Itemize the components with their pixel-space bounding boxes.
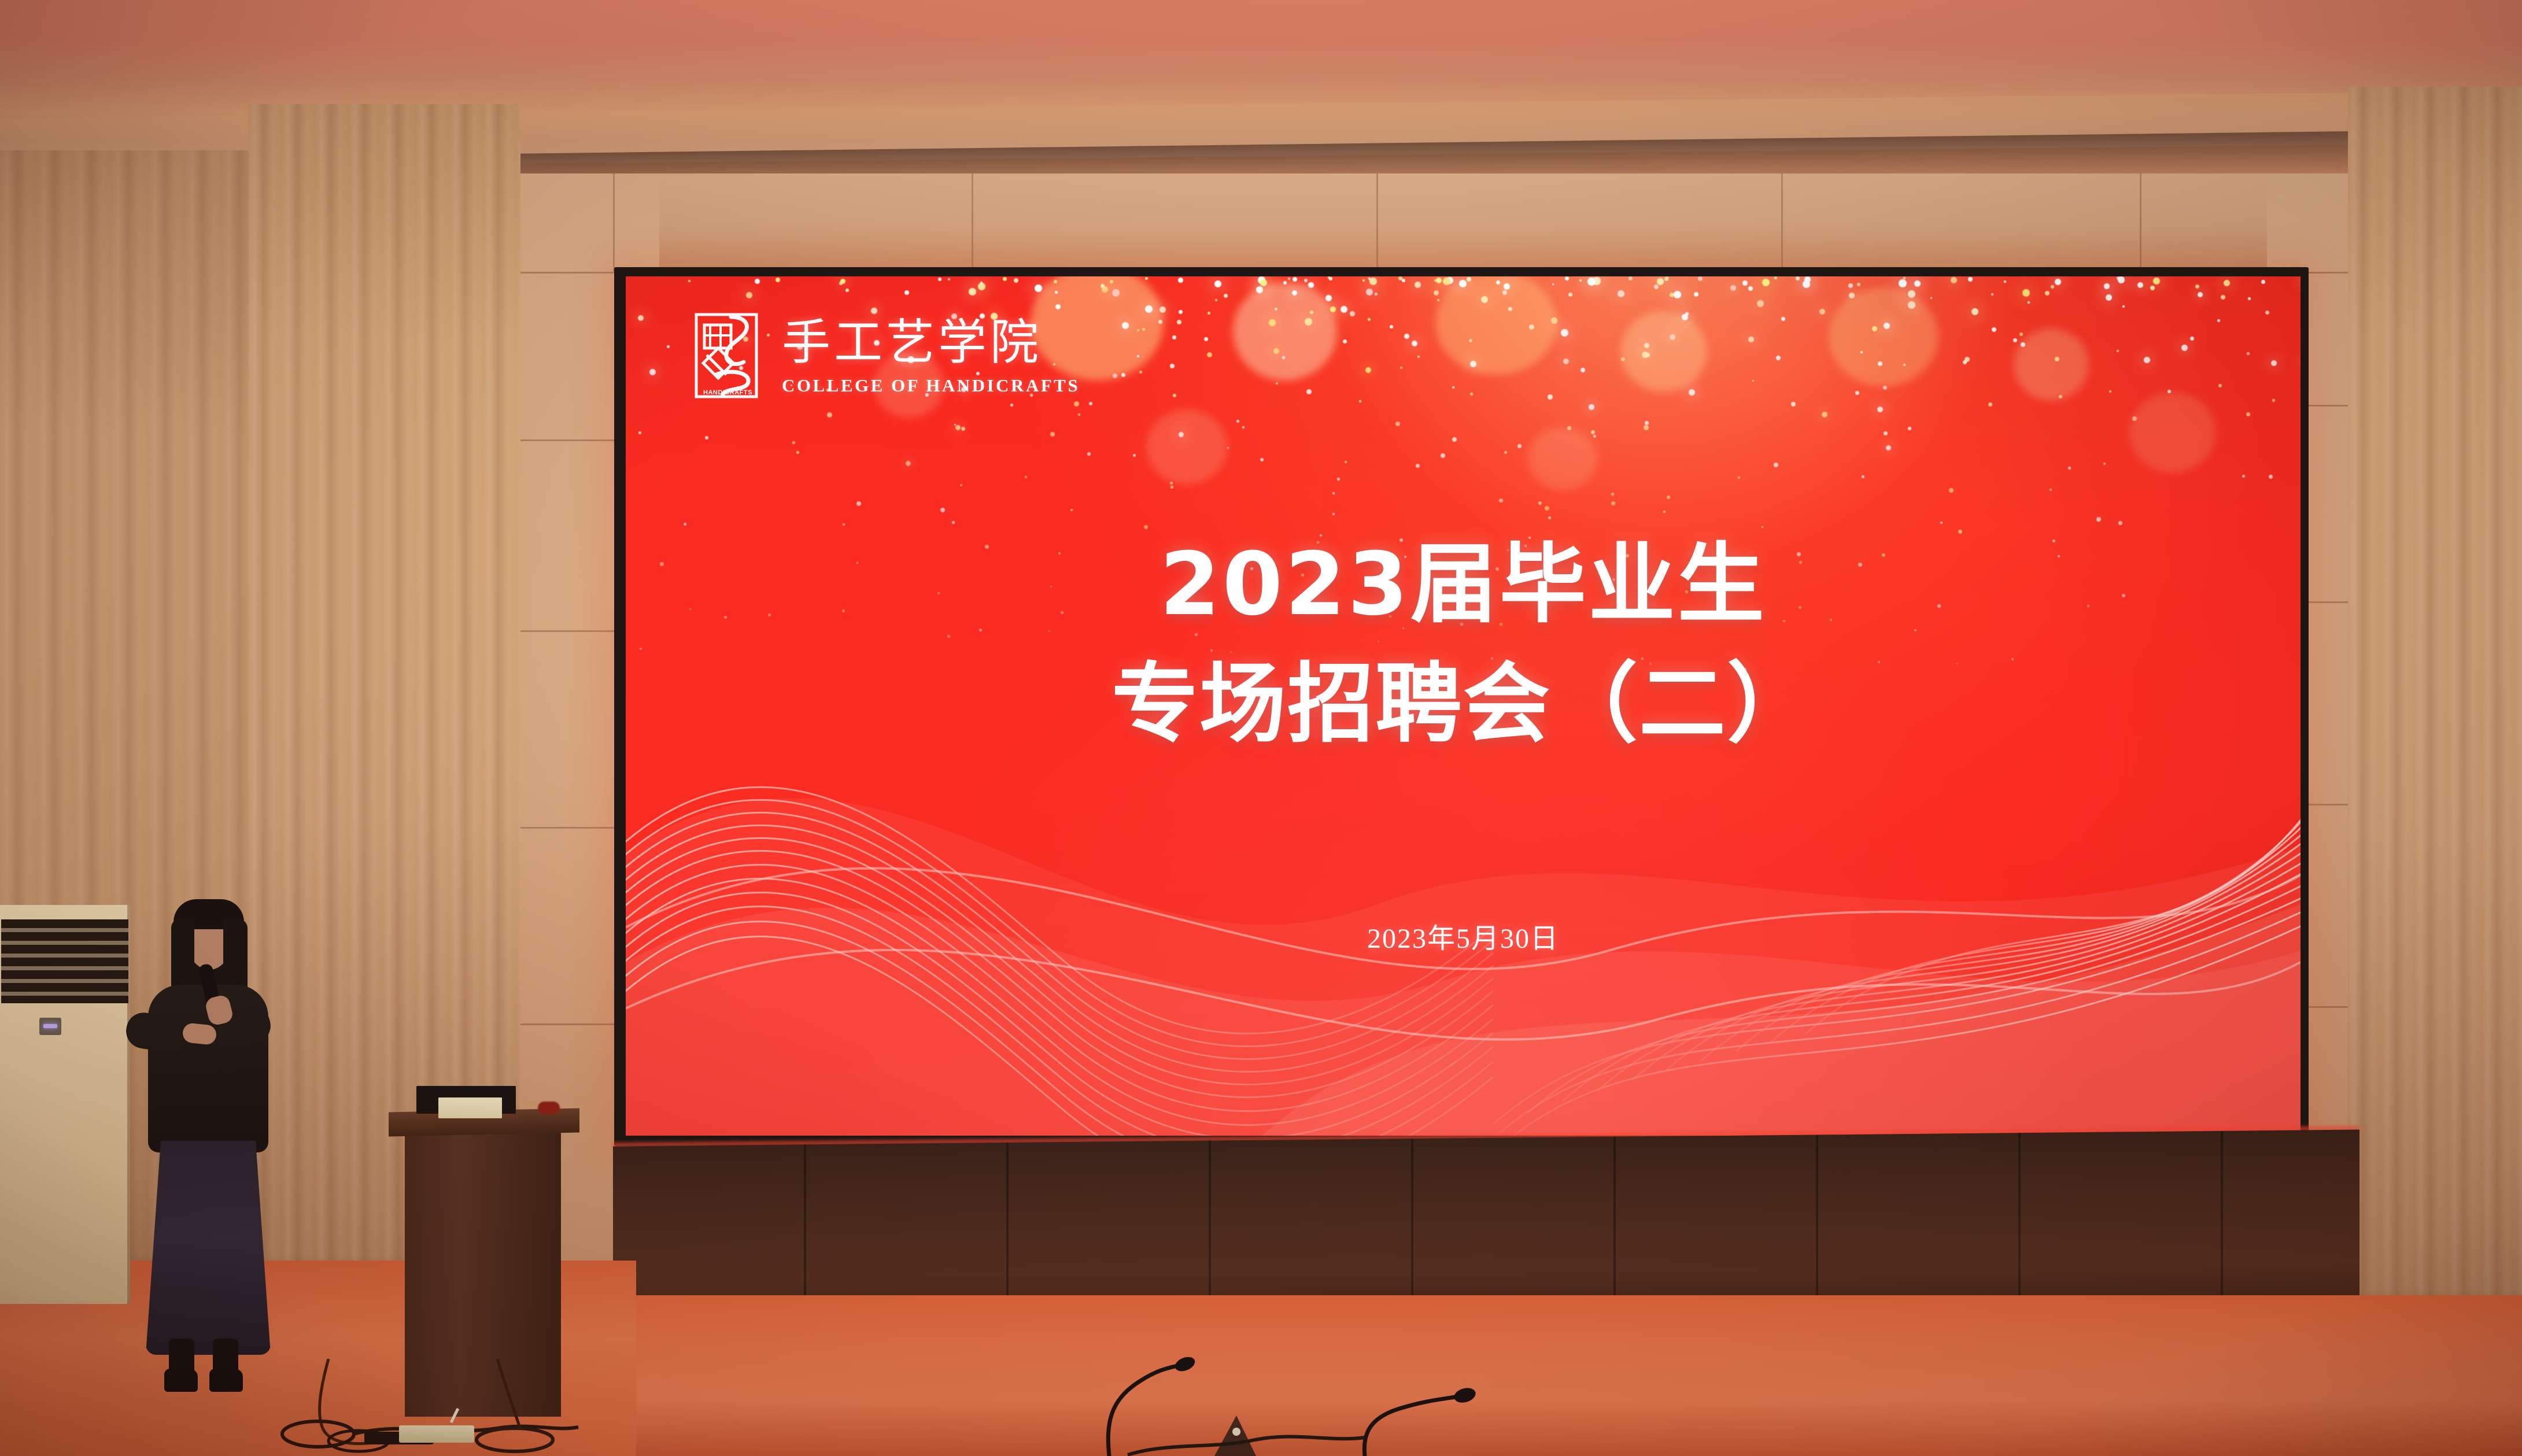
slide-title-line2: 专场招聘会（二） — [626, 645, 2301, 764]
bokeh-glow — [1435, 276, 1557, 375]
college-name-en: COLLEGE OF HANDICRAFTS — [782, 376, 1080, 394]
bokeh-glow — [1620, 311, 1707, 392]
air-conditioner-vents — [1, 919, 128, 1003]
gooseneck-microphones — [1041, 1318, 1515, 1456]
wall-grout-line — [1376, 173, 1378, 272]
curtain-right — [2348, 87, 2522, 1330]
bokeh-glow — [1829, 288, 1938, 386]
college-logo: HANDICRAFTS 手工艺学院 COLLEGE OF HANDICRAFTS — [693, 306, 1080, 404]
slide-title-line1: 2023届毕业生 — [626, 525, 2301, 645]
bokeh-glow — [1146, 409, 1227, 485]
college-seal-icon: HANDICRAFTS — [693, 306, 765, 404]
wall-panel-top — [509, 173, 2383, 272]
presenter-skirt — [146, 1141, 271, 1355]
slide-date: 2023年5月30日 — [626, 915, 2301, 956]
wall-grout-line — [972, 173, 973, 272]
presenter — [116, 899, 289, 1396]
college-name-block: 手工艺学院 COLLEGE OF HANDICRAFTS — [782, 306, 1080, 394]
power-strip — [399, 1425, 474, 1443]
wall-grout-line — [2140, 173, 2141, 272]
podium-name-card — [438, 1097, 502, 1118]
screen-content: HANDICRAFTS 手工艺学院 COLLEGE OF HANDICRAFTS… — [626, 276, 2301, 1136]
wall-grout-line — [613, 173, 615, 272]
air-conditioner-display — [39, 1018, 61, 1035]
auditorium-photo: HANDICRAFTS 手工艺学院 COLLEGE OF HANDICRAFTS… — [0, 0, 2522, 1456]
bokeh-glow — [1528, 427, 1597, 490]
slide-title-block: 2023届毕业生 专场招聘会（二） — [626, 525, 2301, 764]
svg-text:HANDICRAFTS: HANDICRAFTS — [703, 389, 752, 396]
bokeh-glow — [2014, 328, 2089, 401]
led-screen[interactable]: HANDICRAFTS 手工艺学院 COLLEGE OF HANDICRAFTS… — [626, 276, 2301, 1136]
college-name-cn: 手工艺学院 — [782, 318, 1080, 367]
podium-microphone — [538, 1102, 560, 1114]
bokeh-glow — [2129, 392, 2216, 473]
wall-grout-line — [1781, 173, 1783, 272]
bokeh-glow — [1233, 282, 1337, 380]
stage-seam — [2221, 1131, 2223, 1322]
